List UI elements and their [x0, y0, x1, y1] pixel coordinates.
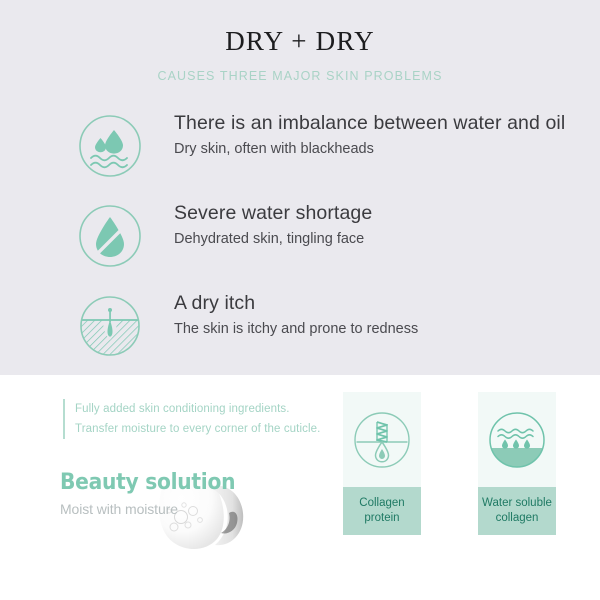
ingredient-label-line1: Collagen [359, 496, 404, 511]
brand-subtitle: Moist with moisture [60, 498, 250, 520]
claim-line: Transfer moisture to every corner of the… [75, 419, 320, 439]
problem-title: There is an imbalance between water and … [174, 110, 584, 137]
solution-section: Fully added skin conditioning ingredient… [0, 375, 600, 600]
ingredient-label: Water soluble collagen [478, 487, 556, 535]
skin-pore-itch-icon [78, 294, 142, 358]
ingredient-label-line2: protein [364, 511, 399, 526]
ingredient-icon-area [343, 392, 421, 487]
page-title: DRY + DRY [0, 26, 600, 57]
problem-subtitle: Dry skin, often with blackheads [174, 138, 584, 160]
ingredient-label: Collagen protein [343, 487, 421, 535]
water-drops-waves-icon [78, 114, 142, 178]
list-item: There is an imbalance between water and … [0, 108, 600, 198]
problem-text-block: Severe water shortage Dehydrated skin, t… [174, 200, 584, 250]
collagen-helix-drop-icon [353, 411, 411, 469]
problems-section: DRY + DRY CAUSES THREE MAJOR SKIN PROBLE… [0, 0, 600, 375]
ingredient-card[interactable]: Water soluble collagen [478, 392, 556, 535]
claim-line: Fully added skin conditioning ingredient… [75, 399, 320, 419]
problem-title: Severe water shortage [174, 200, 584, 227]
list-item: A dry itch The skin is itchy and prone t… [0, 288, 600, 378]
brand-title: Beauty solution [60, 470, 235, 496]
ingredient-icon-area [478, 392, 556, 487]
brand-block: Beauty solution Moist with moisture [60, 470, 250, 520]
infographic-page: DRY + DRY CAUSES THREE MAJOR SKIN PROBLE… [0, 0, 600, 600]
ingredient-card[interactable]: Collagen protein [343, 392, 421, 535]
claims-block: Fully added skin conditioning ingredient… [63, 399, 320, 439]
page-subtitle: CAUSES THREE MAJOR SKIN PROBLEMS [0, 69, 600, 83]
problem-list: There is an imbalance between water and … [0, 108, 600, 378]
problem-title: A dry itch [174, 290, 584, 317]
ingredient-label-line1: Water soluble [482, 496, 552, 511]
problem-text-block: A dry itch The skin is itchy and prone t… [174, 290, 584, 340]
water-waves-drops-icon [488, 411, 546, 469]
ingredient-label-line2: collagen [496, 511, 539, 526]
no-water-drop-icon [78, 204, 142, 268]
problem-subtitle: Dehydrated skin, tingling face [174, 228, 584, 250]
list-item: Severe water shortage Dehydrated skin, t… [0, 198, 600, 288]
problem-text-block: There is an imbalance between water and … [174, 110, 584, 160]
problem-subtitle: The skin is itchy and prone to redness [174, 318, 584, 340]
